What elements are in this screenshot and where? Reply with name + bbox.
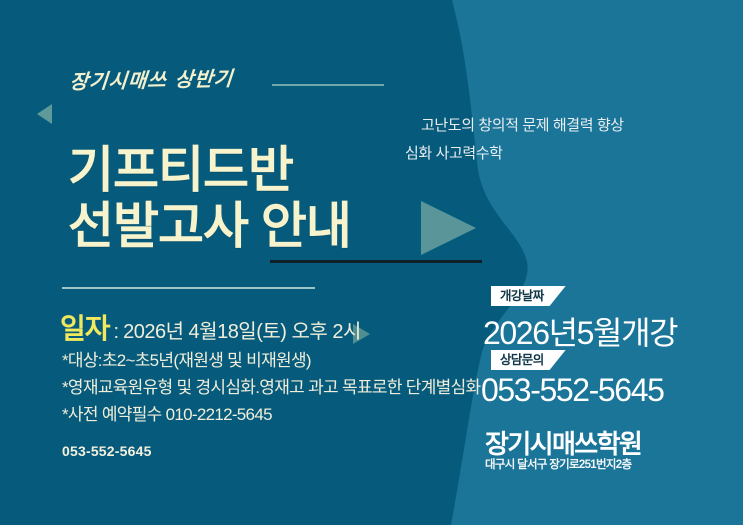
right-content-column: 고난도의 창의적 문제 해결력 향상 심화 사고력수학 개강날짜 2026년5월… — [423, 0, 743, 525]
tagline-block: 고난도의 창의적 문제 해결력 향상 심화 사고력수학 — [405, 112, 735, 168]
open-date-value: 2026년5월개강 — [483, 308, 677, 354]
footer-phone-number: 053-552-5645 — [62, 443, 152, 459]
date-label: 일자 — [60, 313, 110, 344]
brand-script-label: 장기시매쓰 상반기 — [69, 62, 235, 94]
academy-address: 대구시 달서구 장기로251번지2층 — [485, 456, 631, 472]
tagline-line-2: 심화 사고력수학 — [405, 140, 735, 168]
page-title: 기프티드반 선발고사 안내 — [68, 142, 351, 254]
promo-poster: 장기시매쓰 상반기 기프티드반 선발고사 안내 일자:2026년 4월18일(토… — [0, 0, 743, 525]
tagline-line-1: 고난도의 창의적 문제 해결력 향상 — [405, 112, 735, 140]
contact-banner-label: 상담문의 — [491, 350, 566, 370]
brand-rule-divider — [272, 84, 384, 86]
exam-date-line: 일자:2026년 4월18일(토) 오후 2시 — [60, 307, 361, 347]
headline-line-2: 선발고사 안내 — [68, 198, 351, 254]
headline-line-1: 기프티드반 — [68, 142, 293, 198]
contact-phone-value: 053-552-5645 — [481, 372, 663, 409]
date-value: 2026년 4월18일(토) 오후 2시 — [123, 321, 361, 343]
date-colon: : — [110, 321, 124, 343]
left-content-column: 장기시매쓰 상반기 기프티드반 선발고사 안내 일자:2026년 4월18일(토… — [0, 0, 470, 525]
open-date-banner-label: 개강날짜 — [491, 286, 566, 306]
section-divider — [62, 287, 315, 289]
